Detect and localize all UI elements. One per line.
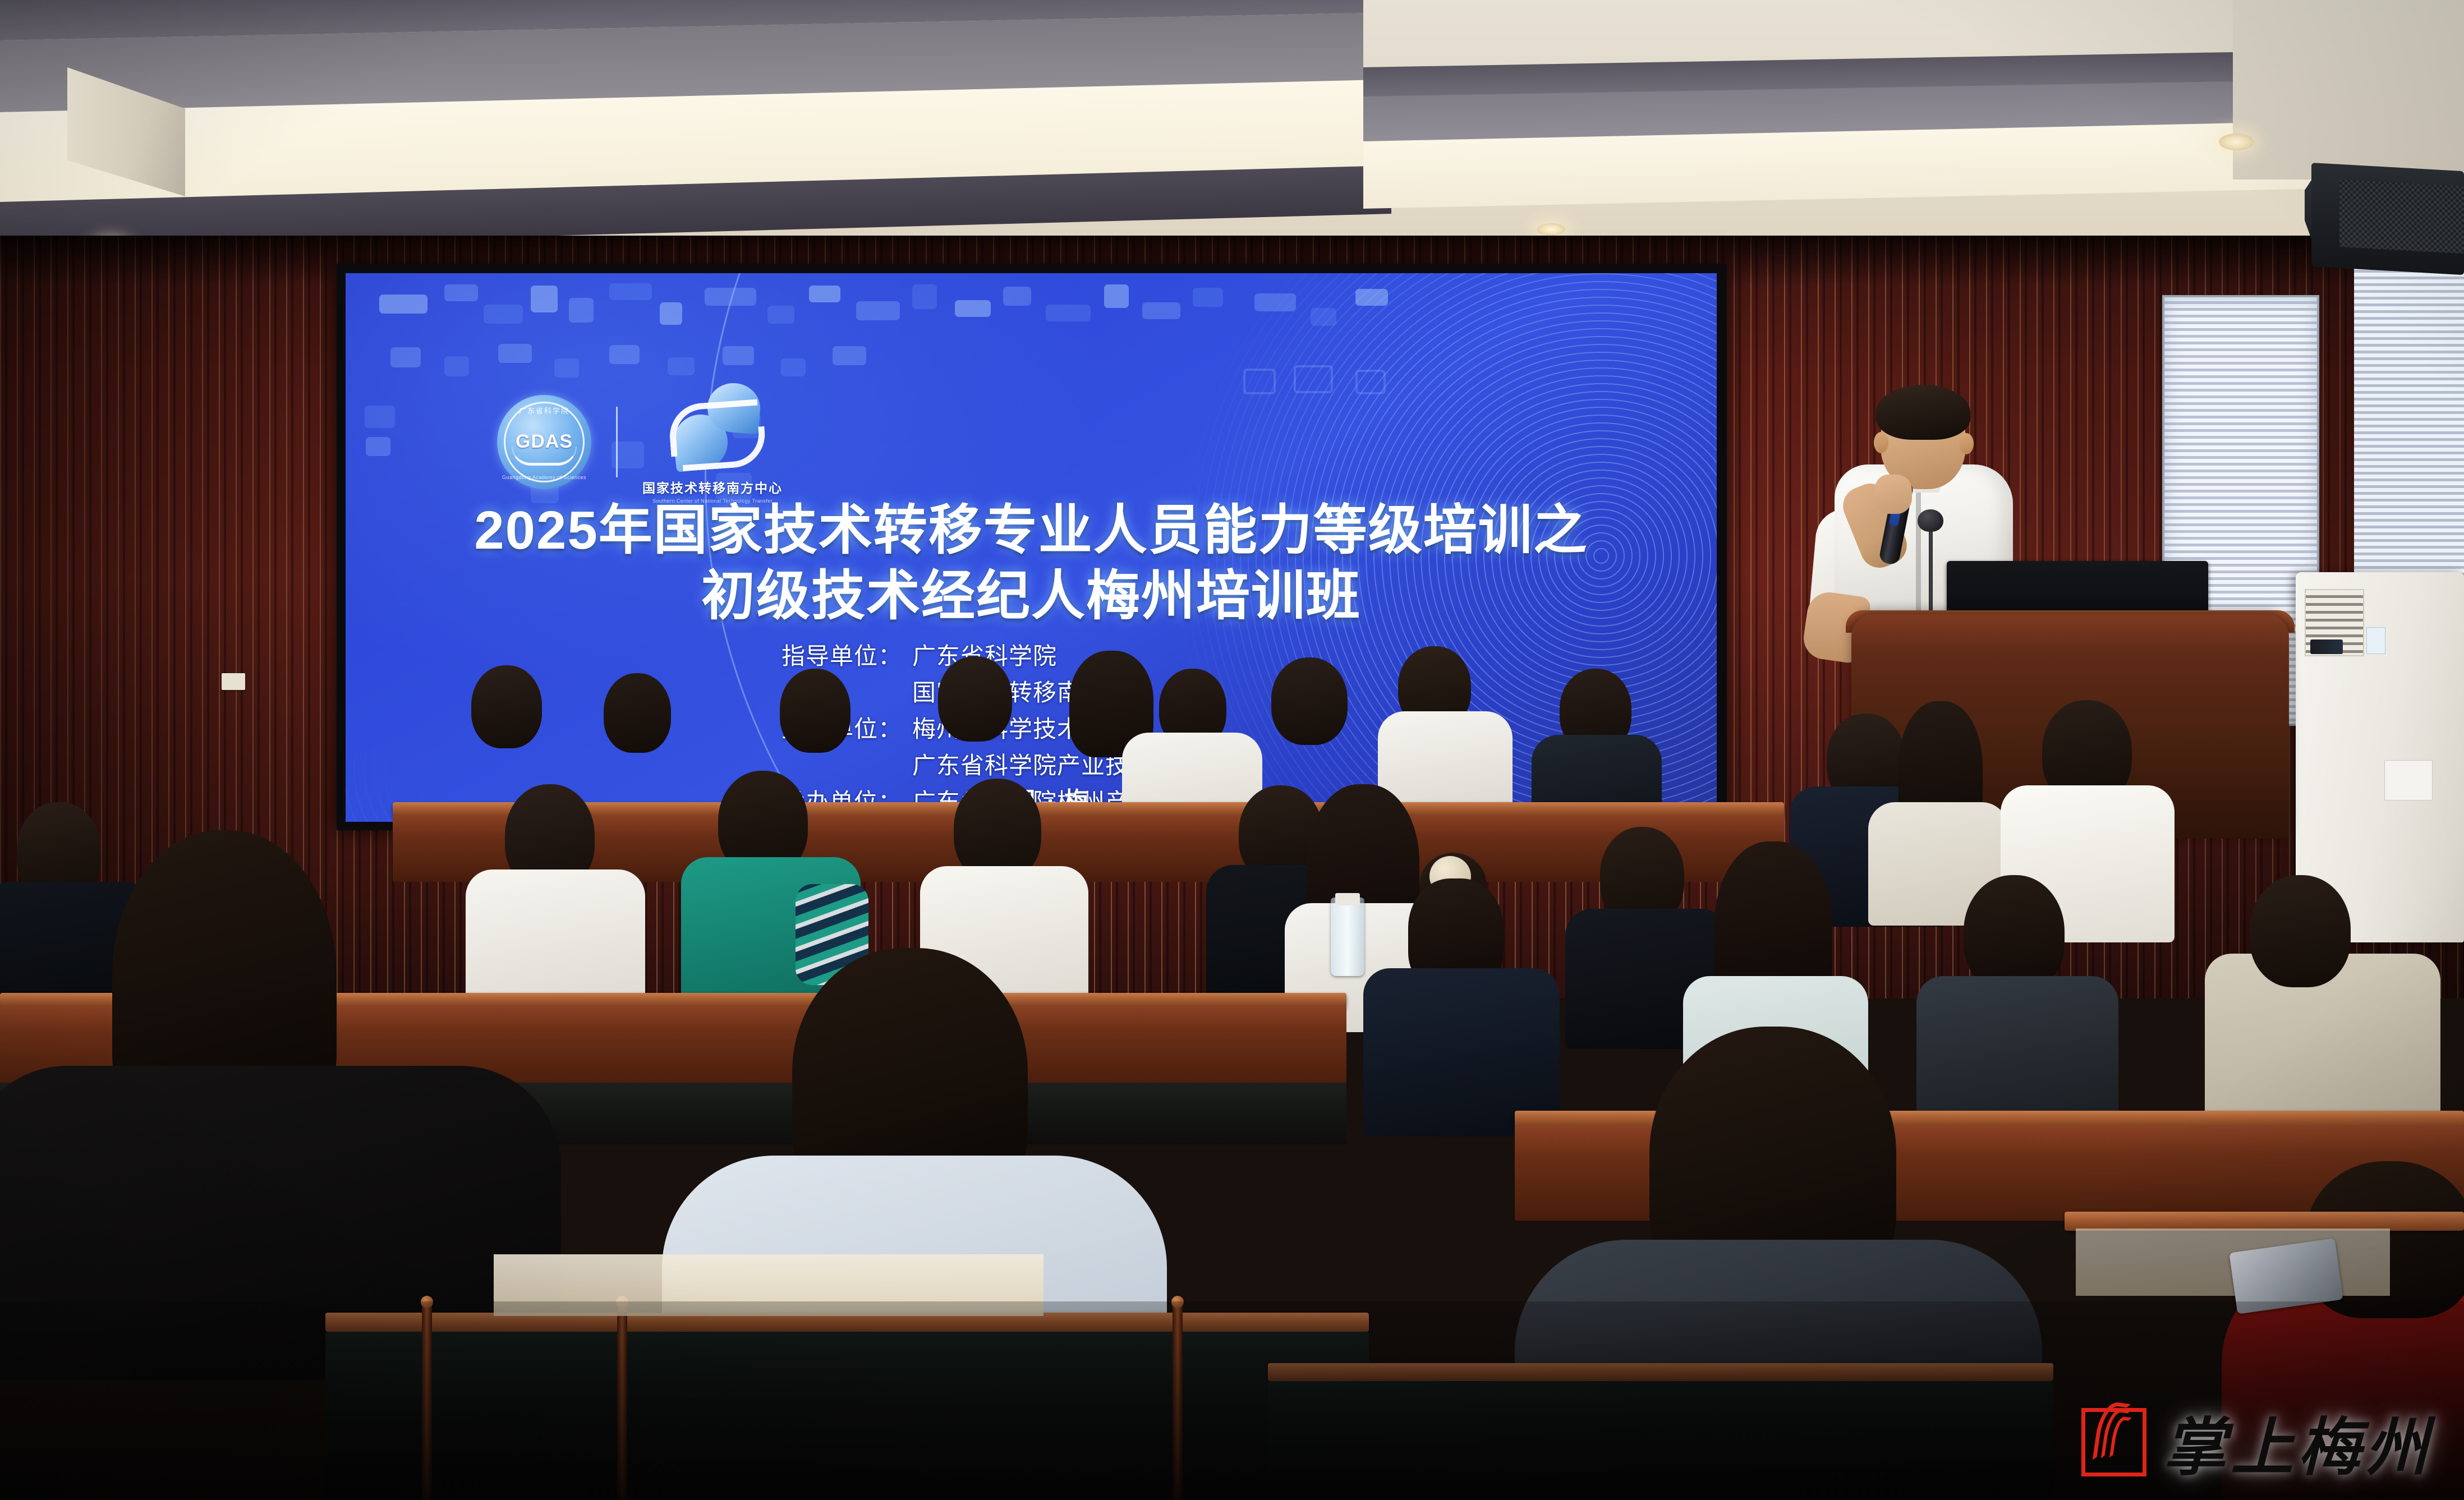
ceiling-far-right <box>2233 0 2464 180</box>
attendee-head <box>780 669 851 753</box>
downlight-icon <box>1537 223 1565 236</box>
wall-outlet-plate <box>222 673 245 690</box>
presenter-hand <box>1875 475 1912 514</box>
ntt-mark-icon <box>659 380 766 475</box>
ac-display-panel[interactable] <box>2310 639 2343 654</box>
attendee-head <box>2250 875 2351 987</box>
presenter-ear <box>1874 432 1888 453</box>
slide-logos: 广东省科学院 GDAS Guangdong Academy of Science… <box>497 380 783 504</box>
organizer-row: 指导单位： 广东省科学院 <box>346 638 1717 674</box>
attendee-head <box>938 656 1012 742</box>
photo-stage: 广东省科学院 GDAS Guangdong Academy of Science… <box>0 0 2464 1500</box>
watermark-text: 掌上梅州 <box>2163 1397 2433 1488</box>
logo-divider <box>616 407 618 477</box>
presenter-hair <box>1876 385 1970 440</box>
attendee-head <box>1271 657 1348 745</box>
desk-microphone-head[interactable] <box>1918 509 1943 532</box>
gdas-abbr: GDAS <box>516 431 573 453</box>
organizer-row: 国家技术转移南方中心 <box>346 674 1717 711</box>
ntt-cn-name: 国家技术转移南方中心 <box>642 477 783 496</box>
watermark: 掌上梅州 <box>2081 1397 2433 1488</box>
desk-microphone-stand <box>1929 522 1933 623</box>
flame-book-logo-icon <box>2081 1408 2146 1476</box>
presenter-ear <box>1959 433 1974 454</box>
ac-spec-sticker <box>2384 760 2433 800</box>
speaker-grille-icon <box>2339 180 2464 254</box>
slide-title-line1: 2025年国家技术转移专业人员能力等级培训之 <box>474 500 1588 560</box>
slide-title: 2025年国家技术转移专业人员能力等级培训之 初级技术经纪人梅州培训班 <box>346 498 1717 629</box>
gdas-en-arc: Guangdong Academy of Sciences <box>497 475 591 480</box>
downlight-icon <box>2219 134 2254 150</box>
attendee-head <box>604 673 671 753</box>
gdas-logo-icon: 广东省科学院 GDAS Guangdong Academy of Science… <box>497 395 591 489</box>
attendee-head <box>954 779 1041 881</box>
gdas-cn-arc: 广东省科学院 <box>497 405 591 416</box>
attendee-head <box>1964 875 2065 993</box>
desk-lip <box>2065 1212 2464 1231</box>
ac-energy-label <box>2366 627 2385 654</box>
bottle-cap <box>1335 893 1360 905</box>
slide-title-line2: 初级技术经纪人梅州培训班 <box>346 563 1717 629</box>
water-bottle[interactable] <box>1331 898 1364 976</box>
ntt-logo-block: 国家技术转移南方中心 Southern Center of National T… <box>642 380 783 504</box>
attendee-head <box>471 665 542 748</box>
